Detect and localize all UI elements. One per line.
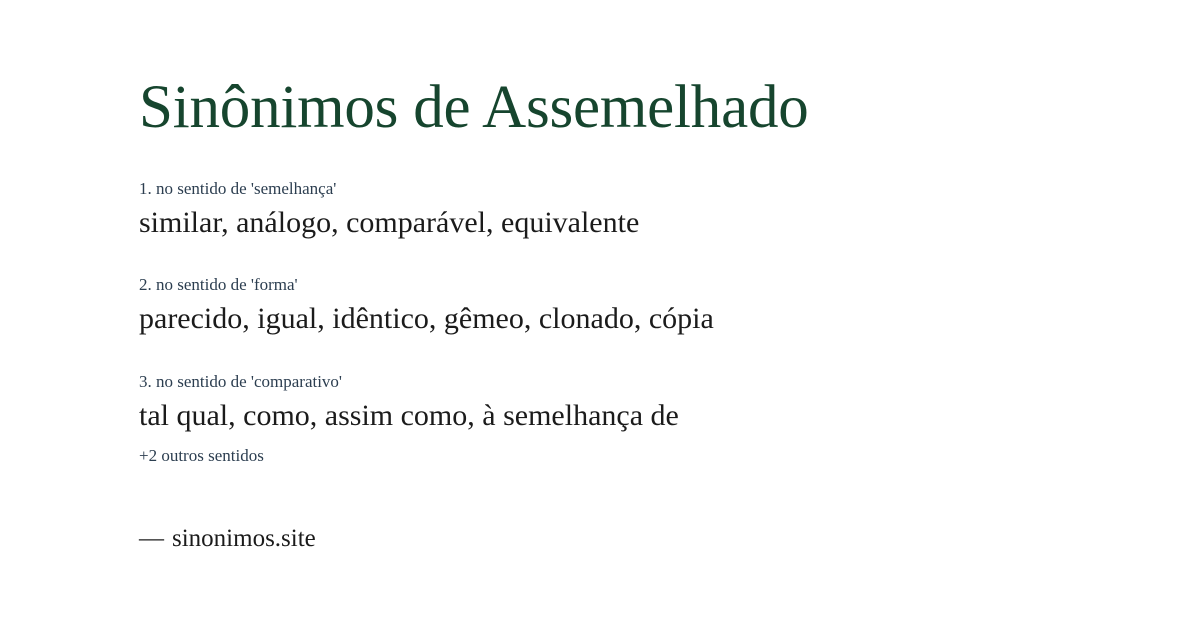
synonym-share-card: Sinônimos de Assemelhado 1. no sentido d… <box>0 0 1200 628</box>
attribution: —sinonimos.site <box>139 523 316 556</box>
sense-block: 3. no sentido de 'comparativo' tal qual,… <box>139 371 1039 435</box>
sense-synonyms: tal qual, como, assim como, à semelhança… <box>139 397 1039 435</box>
sense-block: 2. no sentido de 'forma' parecido, igual… <box>139 274 1039 338</box>
sense-synonyms: similar, análogo, comparável, equivalent… <box>139 204 1039 242</box>
sense-synonyms: parecido, igual, idêntico, gêmeo, clonad… <box>139 300 1039 338</box>
sense-label: 1. no sentido de 'semelhança' <box>139 178 1039 201</box>
more-senses-note: +2 outros sentidos <box>139 445 264 468</box>
em-dash-icon: — <box>139 525 164 552</box>
page-title: Sinônimos de Assemelhado <box>139 74 809 141</box>
attribution-site: sinonimos.site <box>172 525 316 552</box>
sense-block: 1. no sentido de 'semelhança' similar, a… <box>139 178 1039 242</box>
sense-list: 1. no sentido de 'semelhança' similar, a… <box>139 178 1039 435</box>
sense-label: 3. no sentido de 'comparativo' <box>139 371 1039 394</box>
sense-label: 2. no sentido de 'forma' <box>139 274 1039 297</box>
